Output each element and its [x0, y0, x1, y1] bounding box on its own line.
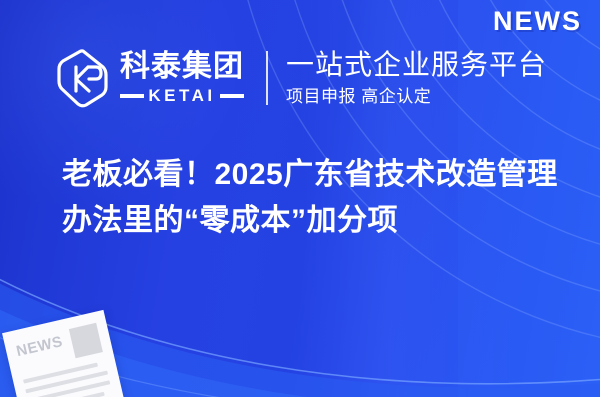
page-title: 老板必看！2025广东省技术改造管理办法里的“零成本”加分项	[62, 152, 562, 243]
tagline-sub: 项目申报 高企认定	[286, 88, 547, 107]
brand-logo[interactable]: 科泰集团 KETAI	[56, 47, 244, 109]
image-placeholder-icon	[69, 323, 103, 359]
brand-name-cn: 科泰集团	[120, 52, 244, 82]
brand-wordmark: 科泰集团 KETAI	[120, 52, 244, 104]
news-badge: NEWS	[493, 8, 582, 35]
header-divider	[266, 51, 268, 105]
news-banner: 科泰集团 KETAI 一站式企业服务平台 项目申报 高企认定 NEWS 老板必看…	[0, 0, 600, 400]
brand-name-en: KETAI	[148, 87, 215, 104]
tagline-main: 一站式企业服务平台	[286, 49, 547, 80]
wordmark-dash-right	[220, 94, 244, 98]
banner-header: 科泰集团 KETAI 一站式企业服务平台 项目申报 高企认定	[0, 36, 600, 120]
ketai-kp-monogram-icon	[56, 47, 110, 109]
wordmark-dash-left	[120, 94, 144, 98]
brand-name-en-row: KETAI	[120, 87, 244, 104]
brand-tagline: 一站式企业服务平台 项目申报 高企认定	[286, 49, 547, 106]
newspaper-headline: NEWS	[14, 331, 66, 360]
